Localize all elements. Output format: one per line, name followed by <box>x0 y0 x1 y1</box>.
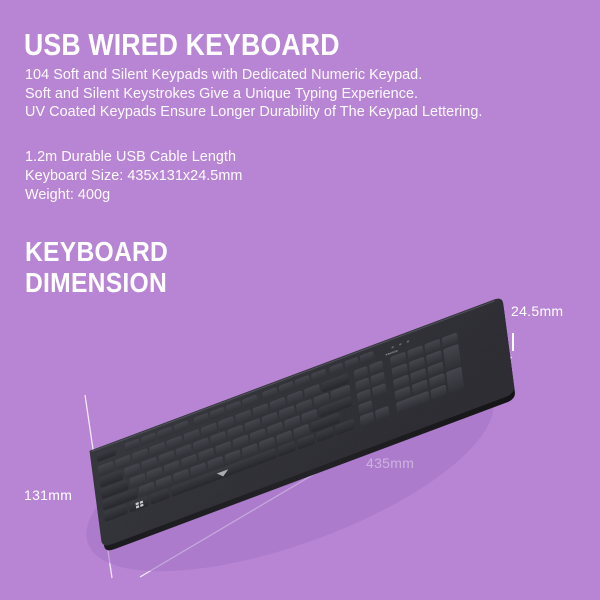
product-scene: KB6000 <box>0 0 600 600</box>
product-poster: USB WIRED KEYBOARD 104 Soft and Silent K… <box>0 0 600 600</box>
keyboard-illustration: KB6000 <box>63 297 518 600</box>
